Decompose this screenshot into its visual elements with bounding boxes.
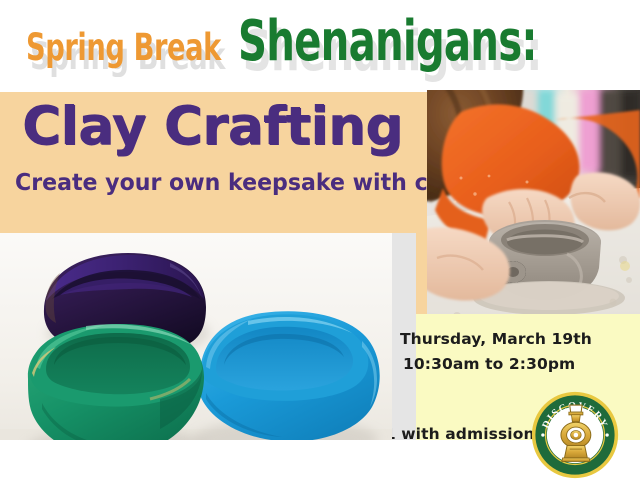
page-title: Clay Crafting [22, 99, 403, 155]
discovery-depot-logo[interactable]: DISCOVERY DEPOT [531, 391, 619, 479]
flyer-poster: Spring BreakShenanigans: Clay Crafting C… [0, 0, 640, 480]
page-subtitle: Create your own keepsake with clay [15, 172, 427, 195]
child-shaping-clay-pot-photo [427, 90, 640, 314]
header-text-group: Spring BreakShenanigans: [26, 14, 611, 70]
title-panel: Clay Crafting Create your own keepsake w… [0, 92, 427, 233]
header-spring-break-text: Spring Break [26, 29, 221, 66]
poster-header: Spring BreakShenanigans: [0, 0, 640, 92]
event-time-text: 10:30am to 2:30pm [403, 355, 575, 373]
header-shenanigans-text: Shenanigans: [238, 14, 537, 70]
event-date-text: Thursday, March 19th [400, 330, 592, 348]
